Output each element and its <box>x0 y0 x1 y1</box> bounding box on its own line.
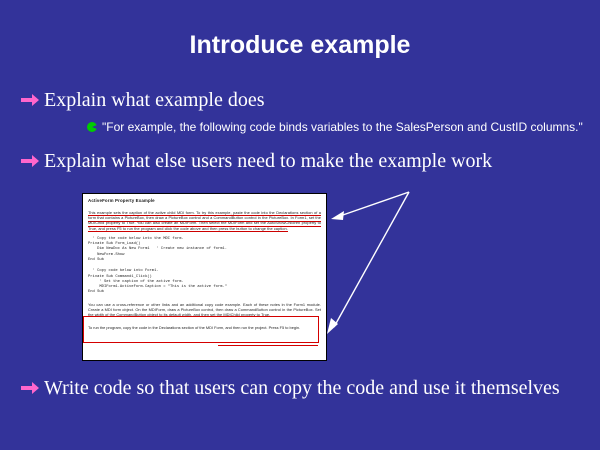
arrow-to-image-bottom <box>327 192 409 334</box>
pink-arrow-bullet-icon <box>20 153 40 169</box>
bullet-label: Write code so that users can copy the co… <box>44 377 560 399</box>
embedded-doc-highlight-paragraph: You can use a cross-reference or other l… <box>88 302 321 318</box>
bullet-item-level1: Write code so that users can copy the co… <box>0 376 584 401</box>
embedded-doc-intro-text: This example sets the caption of the act… <box>88 210 321 232</box>
embedded-doc-code-block-2: ' Copy code below into Form1. Private Su… <box>88 269 321 295</box>
green-circle-bullet-icon <box>86 121 98 133</box>
embedded-doc-tail-paragraph: To run the program, copy the code in the… <box>88 325 321 330</box>
embedded-doc-heading: ActiveForm Property Example <box>88 198 321 204</box>
spacer <box>0 135 600 149</box>
embedded-document-image: ActiveForm Property Example This example… <box>82 193 327 361</box>
bullet-label: "For example, the following code binds v… <box>102 120 583 134</box>
slide: Introduce example Explain what example d… <box>0 0 600 450</box>
bullet-item-level2: "For example, the following code binds v… <box>0 119 600 135</box>
arrow-to-image-top <box>331 192 409 220</box>
page-title: Introduce example <box>0 30 600 60</box>
embedded-document-content: ActiveForm Property Example This example… <box>83 194 326 360</box>
bullet-label: Explain what else users need to make the… <box>44 150 492 172</box>
bullet-label: Explain what example does <box>44 89 265 111</box>
embedded-doc-code-block-1: ' Copy the code below into the MDI form.… <box>88 237 321 263</box>
embedded-doc-intro-paragraph: This example sets the caption of the act… <box>88 210 321 231</box>
bullet-list: Explain what example does "For example, … <box>0 88 600 174</box>
red-underline-rule <box>218 345 318 346</box>
pink-arrow-bullet-icon <box>20 92 40 108</box>
bullet-item-level1: Explain what else users need to make the… <box>0 149 600 174</box>
pink-arrow-bullet-icon <box>20 380 40 396</box>
bullet-item-level1: Explain what example does <box>0 88 600 113</box>
